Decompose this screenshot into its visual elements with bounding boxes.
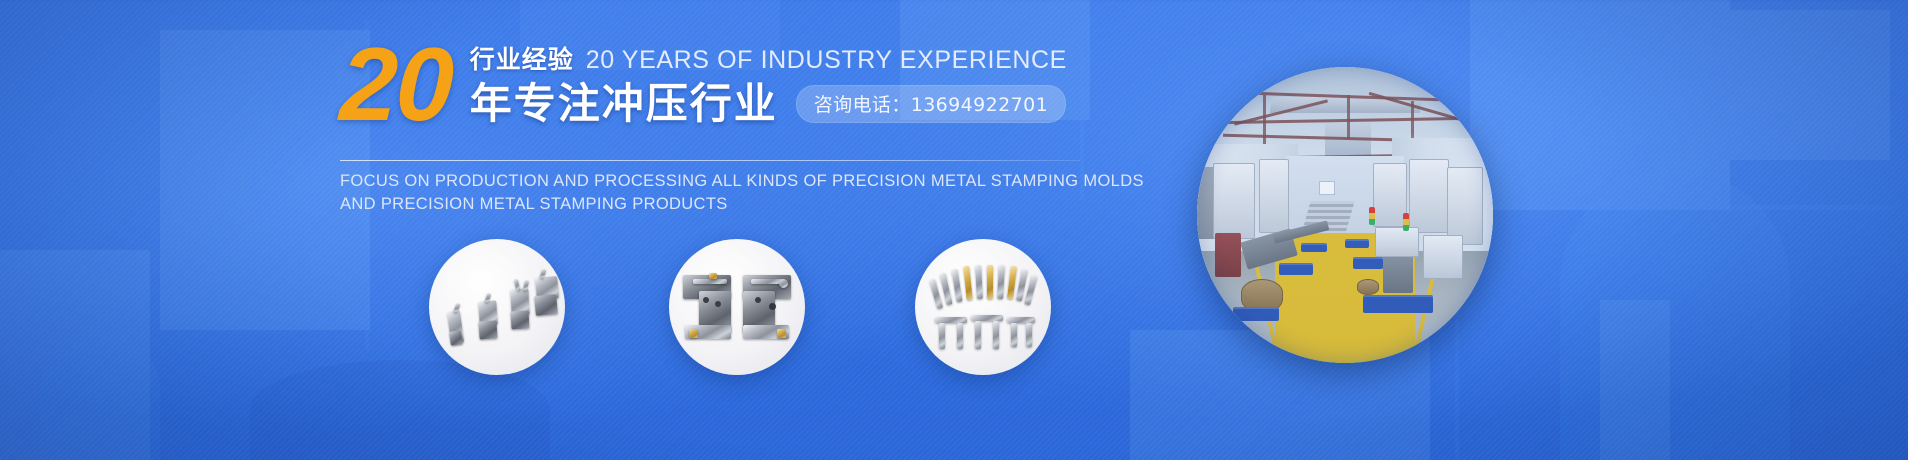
headline-block: 20 行业经验 20 YEARS OF INDUSTRY EXPERIENCE … — [340, 36, 1120, 134]
subtitle-line-1: FOCUS ON PRODUCTION AND PROCESSING ALL K… — [340, 170, 1160, 193]
headline-cn-big: 年专注冲压行业 — [470, 80, 778, 127]
product-circle-connectors[interactable] — [429, 239, 565, 375]
factory-photo-circle[interactable] — [1197, 67, 1493, 363]
headline-cn-small: 行业经验 — [470, 40, 574, 76]
promo-banner: 20 行业经验 20 YEARS OF INDUSTRY EXPERIENCE … — [0, 0, 1908, 460]
phone-pill[interactable]: 咨询电话：13694922701 — [796, 85, 1066, 123]
subtitle-block: FOCUS ON PRODUCTION AND PROCESSING ALL K… — [340, 170, 1160, 217]
connector-parts-group — [429, 239, 565, 375]
headline-divider — [340, 160, 1080, 161]
headline-en-small: 20 YEARS OF INDUSTRY EXPERIENCE — [586, 46, 1067, 75]
stamping-die-group — [669, 239, 805, 375]
product-circle-terminals[interactable] — [915, 239, 1051, 375]
product-circle-stamping-die[interactable] — [669, 239, 805, 375]
terminal-pins-group — [915, 239, 1051, 375]
subtitle-line-2: AND PRECISION METAL STAMPING PRODUCTS — [340, 193, 1160, 216]
years-number: 20 — [338, 36, 453, 134]
